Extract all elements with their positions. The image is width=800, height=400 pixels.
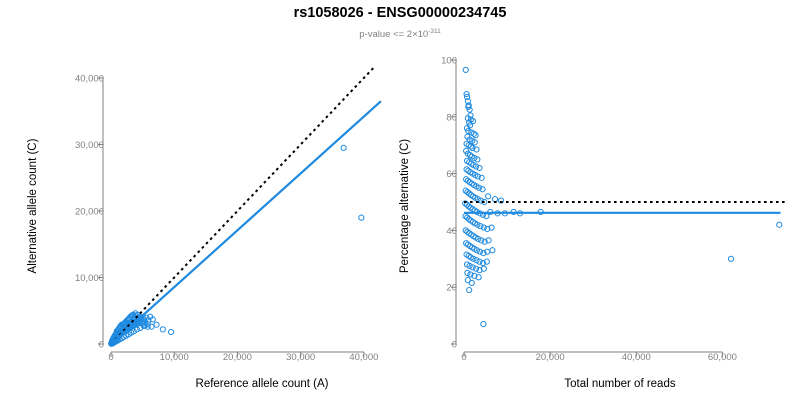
y-axis-tick-label: 30,000 (75, 140, 104, 151)
y-axis-tick-label: 20,000 (75, 206, 104, 217)
y-axis-tick-label: 40 (446, 226, 457, 237)
y-axis-tick-label: 60 (446, 169, 457, 180)
x-axis-tick-label: 0 (108, 352, 113, 363)
x-axis-tick-label: 10,000 (160, 352, 189, 363)
y-axis-tick-label: 80 (446, 112, 457, 123)
y-axis-tick-label: 100 (441, 56, 457, 67)
x-axis-tick-label: 40,000 (622, 352, 651, 363)
subtitle-exponent: -311 (428, 28, 441, 35)
right-y-axis-title-text: Percentage alternative (C) (399, 139, 411, 273)
allele-count-scatter-figure: rs1058026 - ENSG00000234745 p-value <= 2… (0, 0, 800, 400)
x-axis-tick-label: 20,000 (223, 352, 252, 363)
y-axis-tick-label: 40,000 (75, 73, 104, 84)
left-x-axis-title: Reference allele count (A) (196, 378, 329, 390)
x-axis-tick-label: 60,000 (708, 352, 737, 363)
x-axis-tick-label: 20,000 (536, 352, 565, 363)
y-axis-tick-label: 0 (452, 340, 457, 351)
left-y-axis-title-text: Alternative allele count (C) (27, 138, 39, 273)
figure-title: rs1058026 - ENSG00000234745 (294, 5, 507, 21)
right-y-axis-title: Percentage alternative (C) (399, 139, 411, 273)
left-y-axis-title: Alternative allele count (C) (27, 138, 39, 273)
y-axis-tick-label: 0 (99, 340, 104, 351)
x-axis-tick-label: 30,000 (286, 352, 315, 363)
left-x-axis-title-text: Reference allele count (A) (196, 378, 329, 390)
right-x-axis-title: Total number of reads (564, 378, 675, 390)
x-axis-tick-label: 40,000 (349, 352, 378, 363)
y-axis-tick-label: 10,000 (75, 273, 104, 284)
subtitle-prefix: p-value <= 2×10 (359, 29, 428, 40)
x-axis-tick-label: 0 (461, 352, 466, 363)
right-x-axis-title-text: Total number of reads (564, 378, 675, 390)
y-axis-tick-label: 20 (446, 283, 457, 294)
